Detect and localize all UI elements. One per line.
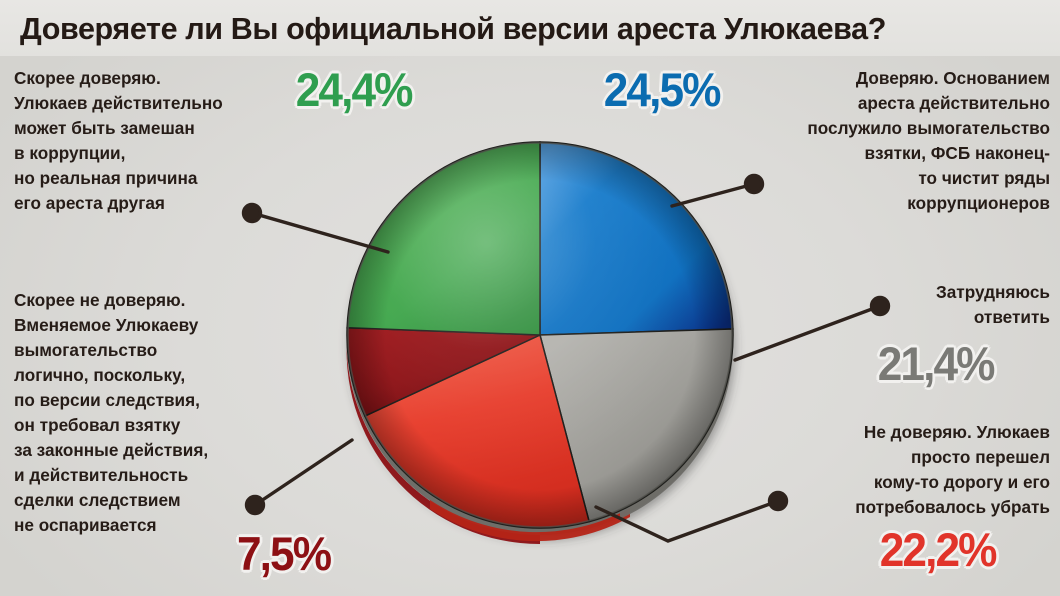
value-distrust: 22,2% — [880, 522, 996, 577]
label-hard-to-say-text: Затрудняюсь ответить — [800, 280, 1050, 330]
label-distrust-text: Не доверяю. Улюкаев просто перешел кому-… — [770, 420, 1050, 520]
label-somewhat-distrust-text: Скорее не доверяю. Вменяемое Улюкаеву вы… — [14, 288, 286, 538]
value-hard-to-say: 21,4% — [878, 336, 994, 391]
value-somewhat-distrust: 7,5% — [237, 526, 330, 581]
label-trust-text: Доверяю. Основанием ареста действительно… — [762, 66, 1050, 216]
pie-chart — [330, 130, 750, 550]
label-somewhat-trust-text: Скорее доверяю. Улюкаев действительно мо… — [14, 66, 284, 216]
value-trust: 24,5% — [604, 62, 720, 117]
page-title: Доверяете ли Вы официальной версии арест… — [20, 6, 1035, 52]
pie-vignette — [347, 142, 733, 528]
infographic-canvas: Доверяете ли Вы официальной версии арест… — [0, 0, 1060, 596]
value-somewhat-trust: 24,4% — [296, 62, 412, 117]
